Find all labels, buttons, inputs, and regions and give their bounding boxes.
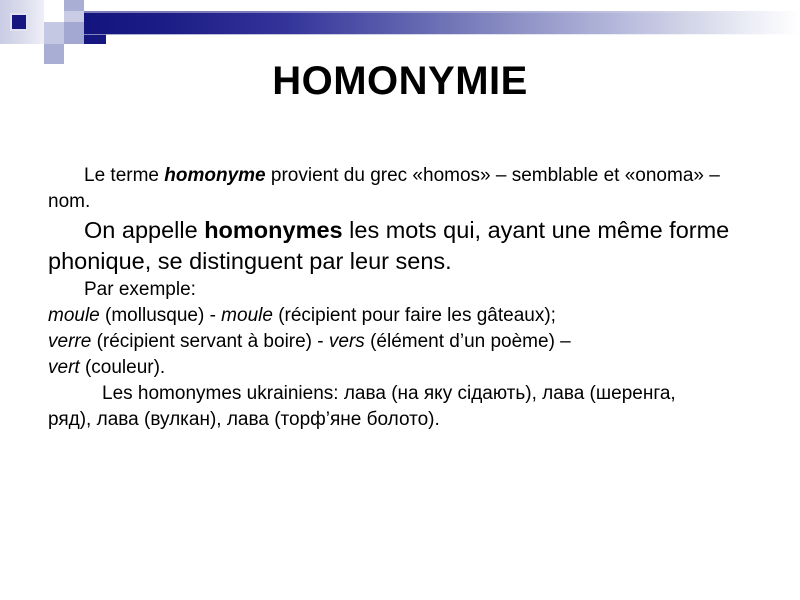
header-square-light-left <box>44 22 64 44</box>
ukrainian-line-1: Les homonymes ukrainiens: лава (на яку с… <box>48 381 752 407</box>
example-2-term-1: verre <box>48 331 91 352</box>
examples-lead: Par exemple: <box>48 277 752 303</box>
example-1-gloss-1: (mollusque) - <box>100 305 221 326</box>
slide-body: Le terme homonyme provient du grec «homo… <box>48 163 752 433</box>
example-line-3: vert (couleur). <box>48 355 752 381</box>
example-line-1: moule (mollusque) - moule (récipient pou… <box>48 303 752 329</box>
example-line-2: verre (récipient servant à boire) - vers… <box>48 329 752 355</box>
definition-lead: Le terme <box>84 165 164 186</box>
header-bar-underline <box>84 34 800 35</box>
header-gradient-bar <box>84 11 800 34</box>
rule-lead: On appelle <box>84 217 204 243</box>
header-square-white <box>44 0 64 22</box>
page-title: HOMONYMIE <box>0 58 800 104</box>
example-2-gloss-1: (récipient servant à boire) - <box>91 331 329 352</box>
header-decoration <box>0 0 800 48</box>
paragraph-definition: Le terme homonyme provient du grec «homo… <box>48 163 752 215</box>
example-1-gloss-2: (récipient pour faire les gâteaux); <box>273 305 556 326</box>
paragraph-rule: On appelle homonymes les mots qui, ayant… <box>48 215 752 277</box>
header-square-dark-accent <box>10 13 28 31</box>
example-3-term-1: vert <box>48 357 80 378</box>
ukrainian-line-2: ряд), лава (вулкан), лава (торф’яне боло… <box>48 407 752 433</box>
rule-emphasis: homonymes <box>204 217 342 243</box>
definition-emphasis: homonyme <box>164 165 265 186</box>
header-square-top-mid <box>64 0 84 11</box>
example-3-gloss-1: (couleur). <box>80 357 166 378</box>
example-1-term-1: moule <box>48 305 100 326</box>
example-1-term-2: moule <box>221 305 273 326</box>
header-square-upper-light <box>64 11 84 22</box>
example-2-term-2: vers <box>329 331 365 352</box>
header-bar-highlight <box>84 11 800 13</box>
header-square-mid <box>64 22 84 44</box>
example-2-gloss-2: (élément d’un poème) – <box>365 331 571 352</box>
